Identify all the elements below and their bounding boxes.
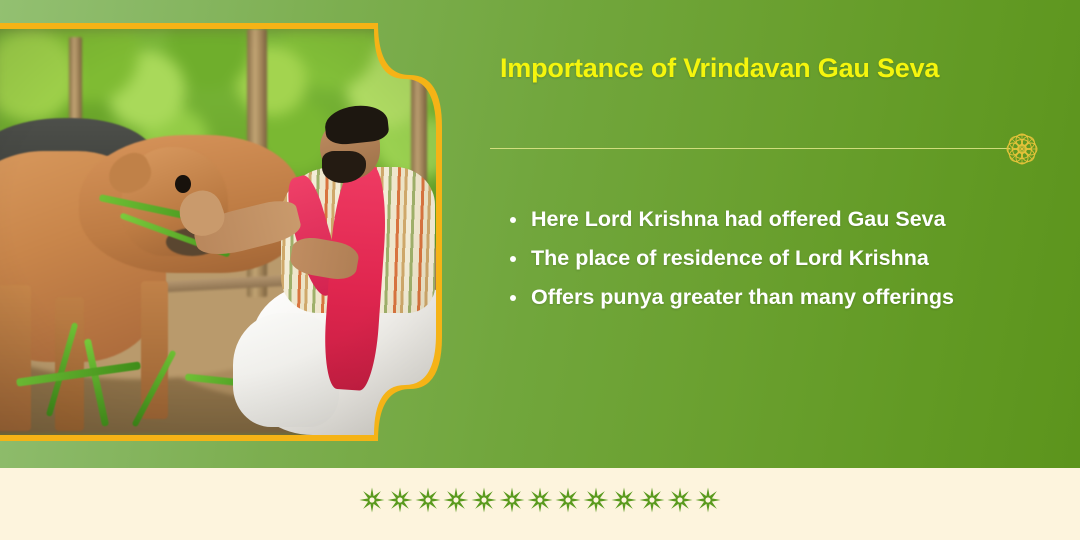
- photo-image: [0, 29, 474, 435]
- bullet-list: Here Lord Krishna had offered Gau Seva T…: [504, 200, 1052, 317]
- eight-point-flower-icon: [527, 487, 553, 513]
- eight-point-flower-icon: [667, 487, 693, 513]
- eight-point-flower-icon: [639, 487, 665, 513]
- list-item: The place of residence of Lord Krishna: [504, 239, 1052, 278]
- list-item: Here Lord Krishna had offered Gau Seva: [504, 200, 1052, 239]
- eight-point-flower-icon: [583, 487, 609, 513]
- list-item: Offers punya greater than many offerings: [504, 278, 1052, 317]
- mandala-flower-icon: [1000, 127, 1044, 171]
- eight-point-flower-icon: [443, 487, 469, 513]
- eight-point-flower-icon: [555, 487, 581, 513]
- page-title: Importance of Vrindavan Gau Seva: [500, 52, 1045, 84]
- eight-point-flower-icon: [359, 487, 385, 513]
- eight-point-flower-icon: [387, 487, 413, 513]
- eight-point-flower-icon: [611, 487, 637, 513]
- horizontal-rule-icon: [490, 148, 1010, 149]
- photo-vignette: [0, 29, 474, 435]
- farm-scene: [0, 29, 474, 435]
- content-column: Importance of Vrindavan Gau Seva: [500, 52, 1045, 84]
- eight-point-flower-icon: [415, 487, 441, 513]
- photo-frame: [0, 23, 480, 441]
- eight-point-flower-icon: [695, 487, 721, 513]
- gau-seva-banner: Importance of Vrindavan Gau Seva: [0, 0, 1080, 540]
- eight-point-flower-icon: [499, 487, 525, 513]
- eight-point-flower-icon: [471, 487, 497, 513]
- flower-divider-strip: [0, 487, 1080, 513]
- divider: [490, 148, 1050, 150]
